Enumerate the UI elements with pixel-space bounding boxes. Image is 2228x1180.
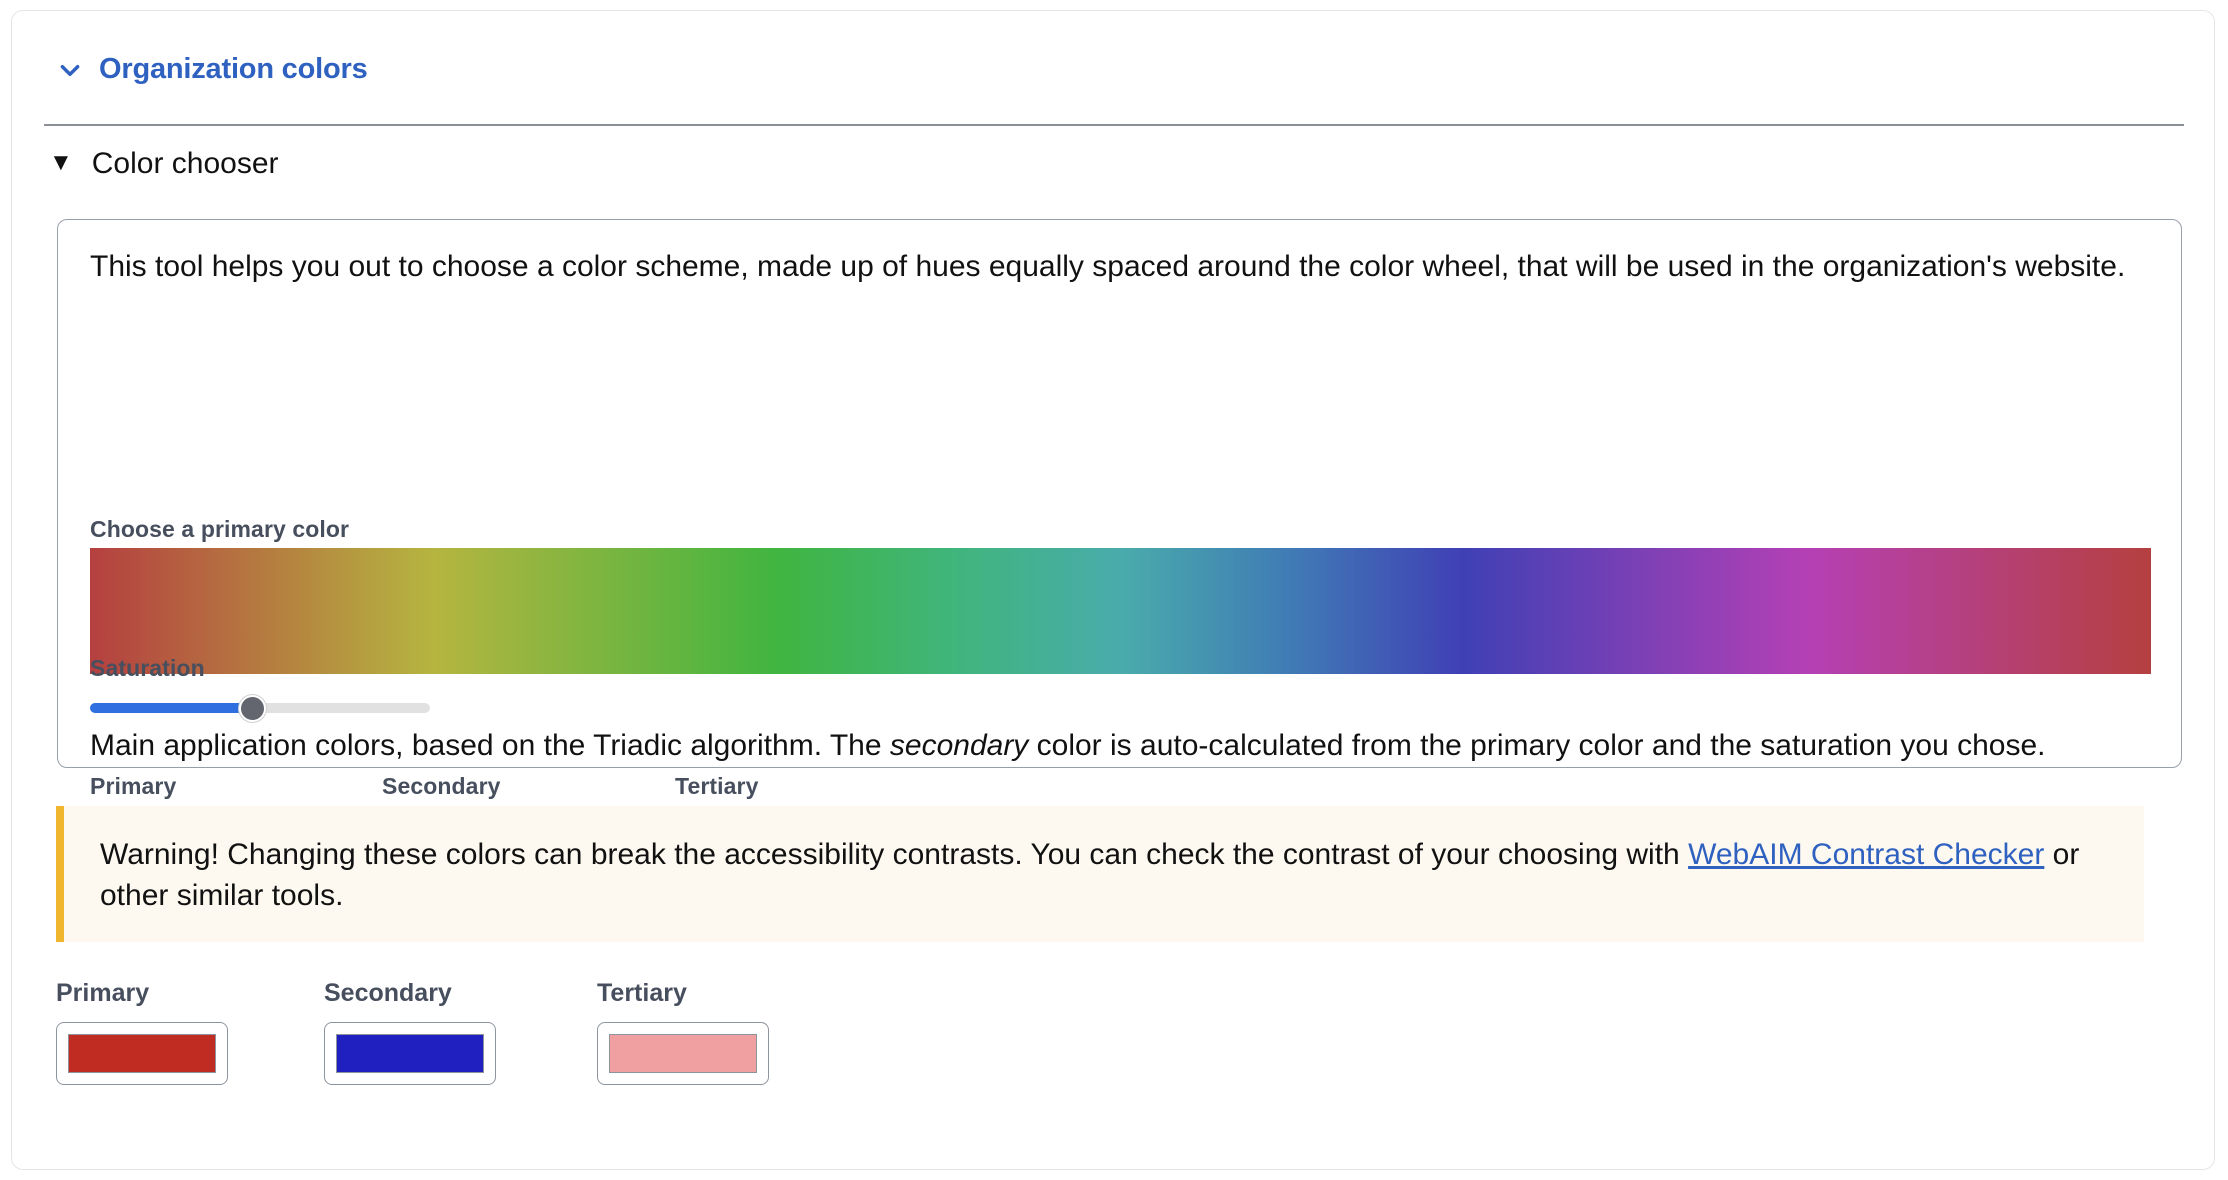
saturation-slider-fill: [90, 703, 254, 713]
accessibility-warning: Warning! Changing these colors can break…: [56, 806, 2144, 942]
color-chooser-label: Color chooser: [92, 147, 279, 181]
color-input-primary-swatch: [68, 1034, 216, 1073]
chevron-down-icon: [57, 57, 83, 83]
color-input-primary-field[interactable]: [56, 1022, 228, 1085]
saturation-slider[interactable]: [90, 691, 430, 725]
header-divider: [44, 124, 2184, 126]
swatch-primary-label: Primary: [90, 773, 362, 800]
color-input-row: Primary Secondary Tertiary: [56, 979, 856, 1119]
accessibility-warning-text: Warning! Changing these colors can break…: [100, 834, 2120, 916]
triadic-explanation-emphasis: secondary: [890, 729, 1028, 762]
color-input-primary: Primary: [56, 979, 228, 1085]
webaim-contrast-checker-link[interactable]: WebAIM Contrast Checker: [1688, 838, 2044, 871]
swatch-tertiary-label: Tertiary: [675, 773, 947, 800]
saturation-slider-thumb[interactable]: [239, 695, 266, 722]
color-input-tertiary-swatch: [609, 1034, 757, 1073]
hue-gradient-picker[interactable]: [90, 548, 2151, 674]
color-input-tertiary-field[interactable]: [597, 1022, 769, 1085]
swatch-secondary-label: Secondary: [382, 773, 654, 800]
color-chooser-panel: This tool helps you out to choose a colo…: [57, 219, 2182, 768]
color-input-secondary: Secondary: [324, 979, 496, 1085]
triadic-explanation-suffix: color is auto-calculated from the primar…: [1028, 729, 2045, 762]
color-input-secondary-field[interactable]: [324, 1022, 496, 1085]
primary-color-field-label: Choose a primary color: [90, 516, 349, 543]
triadic-explanation-prefix: Main application colors, based on the Tr…: [90, 729, 890, 762]
color-chooser-disclosure[interactable]: ▼ Color chooser: [49, 147, 279, 181]
triadic-explanation: Main application colors, based on the Tr…: [90, 729, 2046, 763]
organization-colors-card: Organization colors ▼ Color chooser This…: [11, 10, 2215, 1170]
page-title: Organization colors: [99, 53, 368, 86]
color-input-tertiary: Tertiary: [597, 979, 769, 1085]
color-input-secondary-swatch: [336, 1034, 484, 1073]
color-input-tertiary-label: Tertiary: [597, 979, 769, 1008]
color-input-secondary-label: Secondary: [324, 979, 496, 1008]
organization-colors-section-header[interactable]: Organization colors: [57, 53, 368, 86]
chooser-description: This tool helps you out to choose a colo…: [90, 250, 2125, 284]
saturation-field-label: Saturation: [90, 655, 205, 682]
triangle-down-icon: ▼: [49, 151, 73, 175]
warning-text-before-link: Warning! Changing these colors can break…: [100, 838, 1688, 871]
color-input-primary-label: Primary: [56, 979, 228, 1008]
